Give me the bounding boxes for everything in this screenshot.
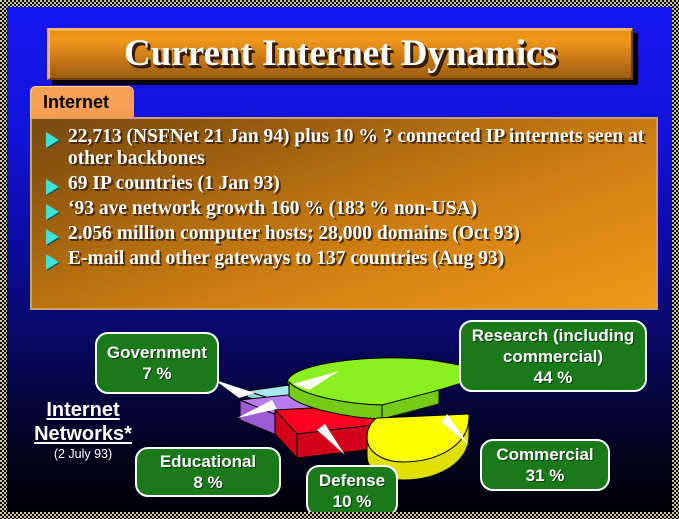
triangle-bullet-icon xyxy=(46,179,59,195)
section-tab-label: Internet xyxy=(31,92,109,113)
callout-defense-name: Defense xyxy=(319,470,385,491)
callout-research[interactable]: Research (including commercial) 44 % xyxy=(459,320,647,392)
callout-government[interactable]: Government 7 % xyxy=(95,332,219,394)
callout-educational-value: 8 % xyxy=(193,472,222,493)
callout-commercial-name: Commercial xyxy=(496,444,593,465)
callout-government-value: 7 % xyxy=(142,363,171,384)
callout-educational[interactable]: Educational 8 % xyxy=(135,447,281,497)
triangle-bullet-icon xyxy=(46,254,59,270)
bullet-text: 22,713 (NSFNet 21 Jan 94) plus 10 % ? co… xyxy=(68,126,646,170)
section-tab-internet[interactable]: Internet xyxy=(30,86,134,118)
bullet-text: 2.056 million computer hosts; 28,000 dom… xyxy=(68,223,520,245)
bullet-text: ‘93 ave network growth 160 % (183 % non-… xyxy=(68,198,477,220)
list-item: 2.056 million computer hosts; 28,000 dom… xyxy=(40,223,646,245)
callout-research-name: Research (including xyxy=(472,325,634,346)
page-title: Current Internet Dynamics xyxy=(124,35,557,72)
bullet-text: 69 IP countries (1 Jan 93) xyxy=(68,173,280,195)
triangle-bullet-icon xyxy=(46,132,59,148)
bullet-panel: 22,713 (NSFNet 21 Jan 94) plus 10 % ? co… xyxy=(30,117,658,310)
list-item: 22,713 (NSFNet 21 Jan 94) plus 10 % ? co… xyxy=(40,126,646,170)
callout-research-name2: commercial) xyxy=(503,346,603,367)
bullet-text: E-mail and other gateways to 137 countri… xyxy=(68,248,504,270)
list-item: 69 IP countries (1 Jan 93) xyxy=(40,173,646,195)
triangle-bullet-icon xyxy=(46,204,59,220)
list-item: ‘93 ave network growth 160 % (183 % non-… xyxy=(40,198,646,220)
triangle-bullet-icon xyxy=(46,229,59,245)
callout-research-value: 44 % xyxy=(534,367,573,388)
title-bar: Current Internet Dynamics xyxy=(47,28,633,80)
callout-defense-value: 10 % xyxy=(333,491,372,512)
callout-commercial[interactable]: Commercial 31 % xyxy=(480,439,610,491)
slide-background: Current Internet Dynamics Internet 22,71… xyxy=(7,7,672,512)
slide-canvas: Current Internet Dynamics Internet 22,71… xyxy=(0,0,679,519)
list-item: E-mail and other gateways to 137 countri… xyxy=(40,248,646,270)
callout-government-name: Government xyxy=(107,342,207,363)
callout-defense[interactable]: Defense 10 % xyxy=(306,465,398,512)
callout-commercial-value: 31 % xyxy=(526,465,565,486)
callout-educational-name: Educational xyxy=(160,451,256,472)
